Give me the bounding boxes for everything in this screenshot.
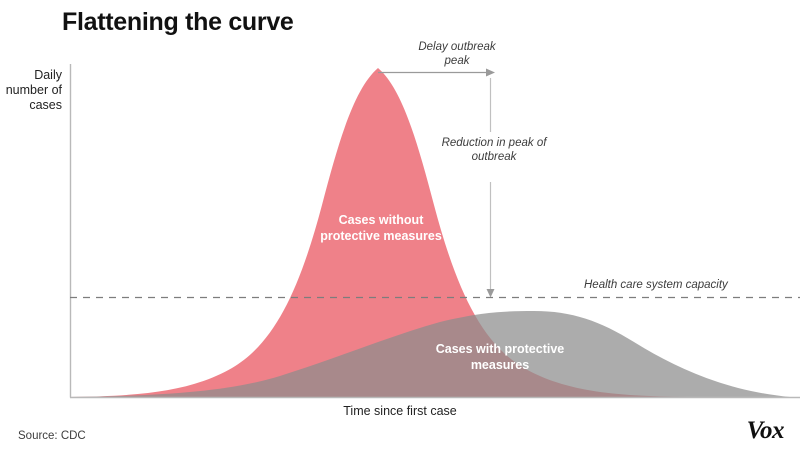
x-axis-title: Time since first case (270, 404, 530, 419)
annotation-reduction-in-peak: Reduction in peak of outbreak (428, 136, 560, 164)
reduction-peak-arrow (487, 78, 495, 298)
annotation-delay-outbreak-peak: Delay outbreak peak (372, 40, 542, 68)
curve-label-cases-without-protective-measures: Cases without protective measures (300, 212, 462, 244)
source-credit: Source: CDC (18, 430, 86, 442)
y-axis-title: Daily number of cases (0, 68, 62, 113)
annotation-health-care-capacity: Health care system capacity (584, 278, 800, 292)
vox-logo: Vox (747, 418, 784, 443)
delay-peak-arrow (378, 69, 495, 77)
curve-label-cases-with-protective-measures: Cases with protective measures (410, 341, 590, 373)
